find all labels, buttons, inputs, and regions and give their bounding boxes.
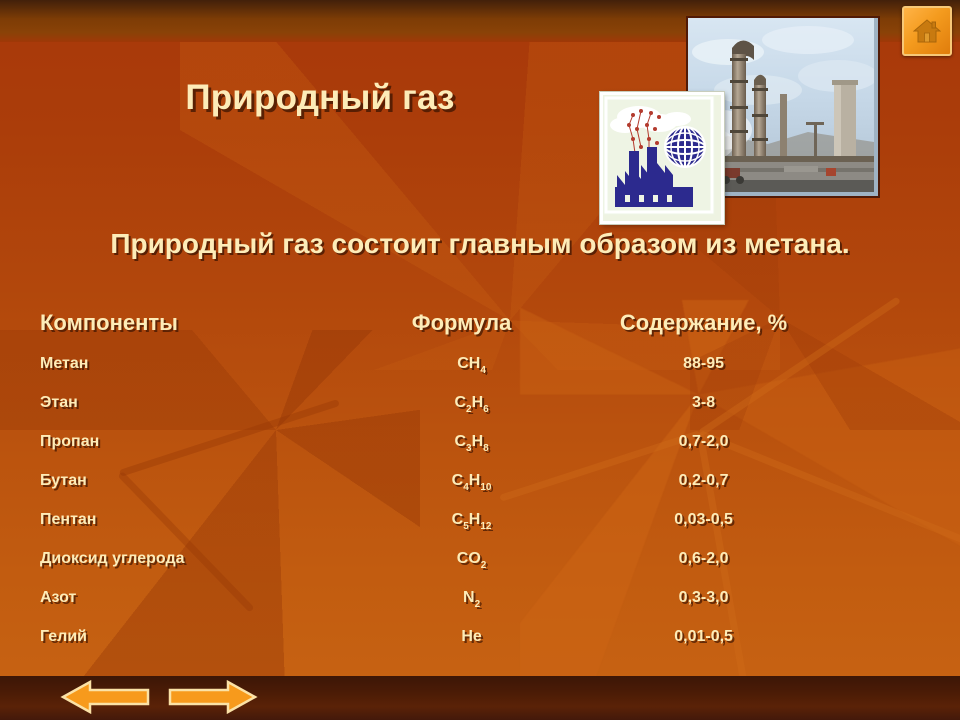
home-button[interactable] (902, 6, 952, 56)
table-header-row: Компоненты Формула Содержание, % (40, 302, 830, 344)
cell-component: Пентан (40, 500, 356, 539)
cell-content: 0,01-0,5 (587, 617, 830, 656)
previous-slide-button[interactable] (60, 680, 150, 714)
cell-formula: C4H10 (356, 461, 587, 500)
arrow-right-icon (168, 680, 258, 714)
cell-formula: C2H6 (356, 383, 587, 422)
table-row: Гелий He 0,01-0,5 (40, 617, 830, 656)
cell-component: Гелий (40, 617, 356, 656)
cell-component: Азот (40, 578, 356, 617)
header-formula: Формула (356, 302, 587, 344)
cell-content: 0,3-3,0 (587, 578, 830, 617)
table-row: Диоксид углерода CO2 0,6-2,0 (40, 539, 830, 578)
cell-content: 0,6-2,0 (587, 539, 830, 578)
table-row: Бутан C4H10 0,2-0,7 (40, 461, 830, 500)
table-row: Пропан C3H8 0,7-2,0 (40, 422, 830, 461)
cell-formula: C3H8 (356, 422, 587, 461)
table-body: Метан CH4 88-95 Этан C2H6 3-8 Пропан C3H… (40, 344, 830, 656)
cell-content: 0,2-0,7 (587, 461, 830, 500)
table-row: Пентан C5H12 0,03-0,5 (40, 500, 830, 539)
cell-component: Пропан (40, 422, 356, 461)
cell-formula: CO2 (356, 539, 587, 578)
cell-component: Бутан (40, 461, 356, 500)
table-row: Метан CH4 88-95 (40, 344, 830, 383)
cell-component: Этан (40, 383, 356, 422)
slide: Природный газ Природный газ состоит глав… (0, 0, 960, 720)
home-icon (913, 18, 941, 44)
cell-content: 0,7-2,0 (587, 422, 830, 461)
next-slide-button[interactable] (168, 680, 258, 714)
cell-content: 3-8 (587, 383, 830, 422)
cell-component: Диоксид углерода (40, 539, 356, 578)
cell-content: 0,03-0,5 (587, 500, 830, 539)
header-component: Компоненты (40, 302, 356, 344)
header-content: Содержание, % (587, 302, 830, 344)
table-row: Этан C2H6 3-8 (40, 383, 830, 422)
cell-component: Метан (40, 344, 356, 383)
gas-composition-table: Компоненты Формула Содержание, % Метан C… (40, 302, 830, 656)
slide-subtitle: Природный газ состоит главным образом из… (0, 228, 960, 260)
cell-formula: C5H12 (356, 500, 587, 539)
arrow-left-icon (60, 680, 150, 714)
page-title: Природный газ (0, 78, 640, 118)
cell-content: 88-95 (587, 344, 830, 383)
cell-formula: He (356, 617, 587, 656)
table-row: Азот N2 0,3-3,0 (40, 578, 830, 617)
cell-formula: CH4 (356, 344, 587, 383)
cell-formula: N2 (356, 578, 587, 617)
